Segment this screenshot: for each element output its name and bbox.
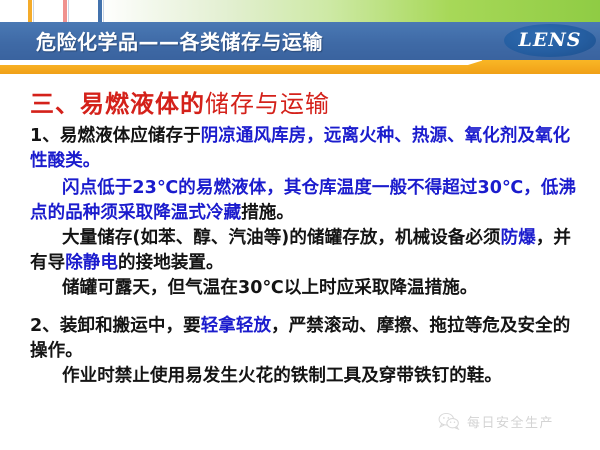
item2-line1-blue: 轻拿轻放: [201, 316, 271, 336]
item1-line4-black: 储罐可露天，但气温在30℃以上时应采取降温措施。: [62, 278, 477, 298]
item2-line1-black-a: 2、装卸和搬运中，要: [30, 316, 201, 336]
section-heading-emphasis: 易燃液体的: [80, 90, 205, 118]
strip-divider-2: [68, 0, 69, 22]
item1-line2-blue: 闪点低于23℃的易燃液体，其仓库温度一般不得超过30℃，低沸点的品种须采取降温式…: [30, 178, 576, 223]
watermark: 每日安全生产: [438, 410, 554, 432]
accent-band-left: [0, 65, 470, 74]
slide-canvas: 危险化学品——各类储存与运输 LENS 三、易燃液体的储存与运输 1、易燃液体应…: [0, 0, 600, 450]
item1-line3-black-c: 的接地装置。: [118, 253, 224, 273]
page-title: 危险化学品——各类储存与运输: [36, 24, 323, 60]
item2-line2-black: 作业时禁止使用易发生火花的铁制工具及穿带铁钉的鞋。: [62, 366, 502, 386]
wechat-icon: [438, 412, 460, 430]
paragraph-item1-line4: 储罐可露天，但气温在30℃以上时应采取降温措施。: [0, 276, 600, 301]
strip-tick-blue: [98, 0, 102, 22]
accent-band-right: [482, 60, 600, 74]
paragraph-item2-line1: 2、装卸和搬运中，要轻拿轻放，严禁滚动、摩擦、拖拉等危及安全的操作。: [0, 301, 600, 364]
watermark-text: 每日安全生产: [467, 412, 554, 431]
item1-line3-blue-a: 防爆: [501, 228, 536, 248]
content-body: 1、易燃液体应储存于阴凉通风库房，远离火种、热源、氧化剂及氧化性酸类。 闪点低于…: [0, 124, 600, 389]
strip-tick-orange: [28, 0, 32, 22]
section-heading-number: 三、: [30, 90, 80, 118]
section-heading: 三、易燃液体的储存与运输: [30, 84, 330, 119]
paragraph-item1-line3: 大量储存(如苯、醇、汽油等)的储罐存放，机械设备必须防爆，并有导除静电的接地装置…: [0, 226, 600, 276]
paragraph-item2-line2: 作业时禁止使用易发生火花的铁制工具及穿带铁钉的鞋。: [0, 364, 600, 389]
strip-tick-pink: [63, 0, 67, 22]
item1-line3-black-a: 大量储存(如苯、醇、汽油等)的储罐存放，机械设备必须: [62, 228, 501, 248]
header-accent-band: [0, 60, 600, 74]
item1-line3-blue-b: 除静电: [65, 253, 118, 273]
paragraph-item1-line2: 闪点低于23℃的易燃液体，其仓库温度一般不得超过30℃，低沸点的品种须采取降温式…: [0, 174, 600, 226]
item1-line2-black: 措施。: [241, 203, 294, 223]
lens-logo-text: LENS: [504, 24, 596, 57]
paragraph-item1-line1: 1、易燃液体应储存于阴凉通风库房，远离火种、热源、氧化剂及氧化性酸类。: [0, 124, 600, 174]
top-decorative-strip: [0, 0, 600, 22]
strip-divider-3: [103, 0, 104, 22]
strip-divider-1: [33, 0, 34, 22]
section-heading-rest: 储存与运输: [205, 90, 330, 118]
item1-line1-black: 1、易燃液体应储存于: [30, 126, 201, 146]
